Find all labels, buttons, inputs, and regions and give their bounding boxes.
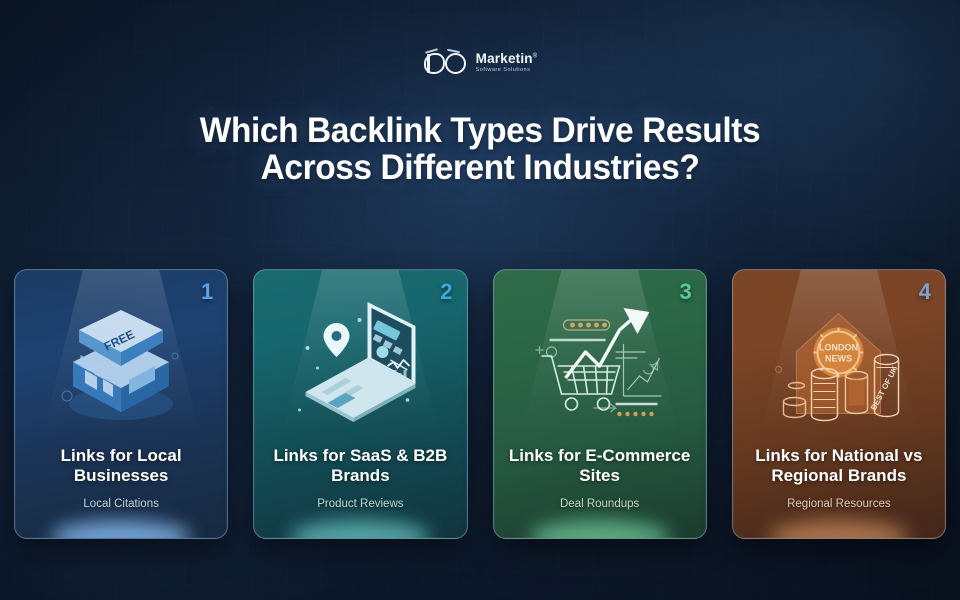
brand-tagline: Software Solutions xyxy=(476,68,538,74)
brand-name: Marketin® xyxy=(476,52,538,66)
card-bottom-glow xyxy=(530,520,670,539)
card-subtitle: Deal Roundups xyxy=(550,498,649,510)
card-bottom-glow xyxy=(769,520,909,539)
svg-text:LONDON: LONDON xyxy=(819,343,858,353)
page-title-line-2: Across Different Industries? xyxy=(22,149,939,186)
card-bottom-glow xyxy=(290,520,430,539)
card-title: Links for National vs Regional Brands xyxy=(733,446,945,487)
card-subtitle: Local Citations xyxy=(73,498,168,510)
card-title: Links for Local Businesses xyxy=(15,446,227,487)
card-local-businesses[interactable]: 1 FREE xyxy=(14,269,228,539)
laptop-dashboard-icon xyxy=(254,290,466,440)
card-national-regional[interactable]: 4 LONDON NEWS xyxy=(732,269,946,539)
brand-text: Marketin® Software Solutions xyxy=(476,52,538,74)
card-grid: 1 FREE xyxy=(14,269,946,539)
poster-canvas: Marketin® Software Solutions Which Backl… xyxy=(0,0,960,600)
card-title: Links for SaaS & B2B Brands xyxy=(254,446,466,487)
card-saas-b2b[interactable]: 2 xyxy=(253,269,467,539)
do-logo-mark-icon xyxy=(423,50,469,76)
shopping-cart-growth-icon xyxy=(494,290,706,440)
card-title: Links for E-Commerce Sites xyxy=(494,446,706,487)
card-subtitle: Product Reviews xyxy=(307,498,413,510)
page-title-line-1: Which Backlink Types Drive Results xyxy=(200,111,760,150)
card-subtitle: Regional Resources xyxy=(777,498,901,510)
card-ecommerce[interactable]: 3 xyxy=(493,269,707,539)
storefront-icon: FREE xyxy=(15,290,227,440)
brand-logo: Marketin® Software Solutions xyxy=(0,50,960,76)
page-title: Which Backlink Types Drive Results Acros… xyxy=(22,112,939,186)
svg-text:NEWS: NEWS xyxy=(825,354,852,364)
badge-containers-icon: LONDON NEWS xyxy=(733,290,945,440)
card-bottom-glow xyxy=(51,520,191,539)
trademark-symbol: ® xyxy=(533,54,538,60)
